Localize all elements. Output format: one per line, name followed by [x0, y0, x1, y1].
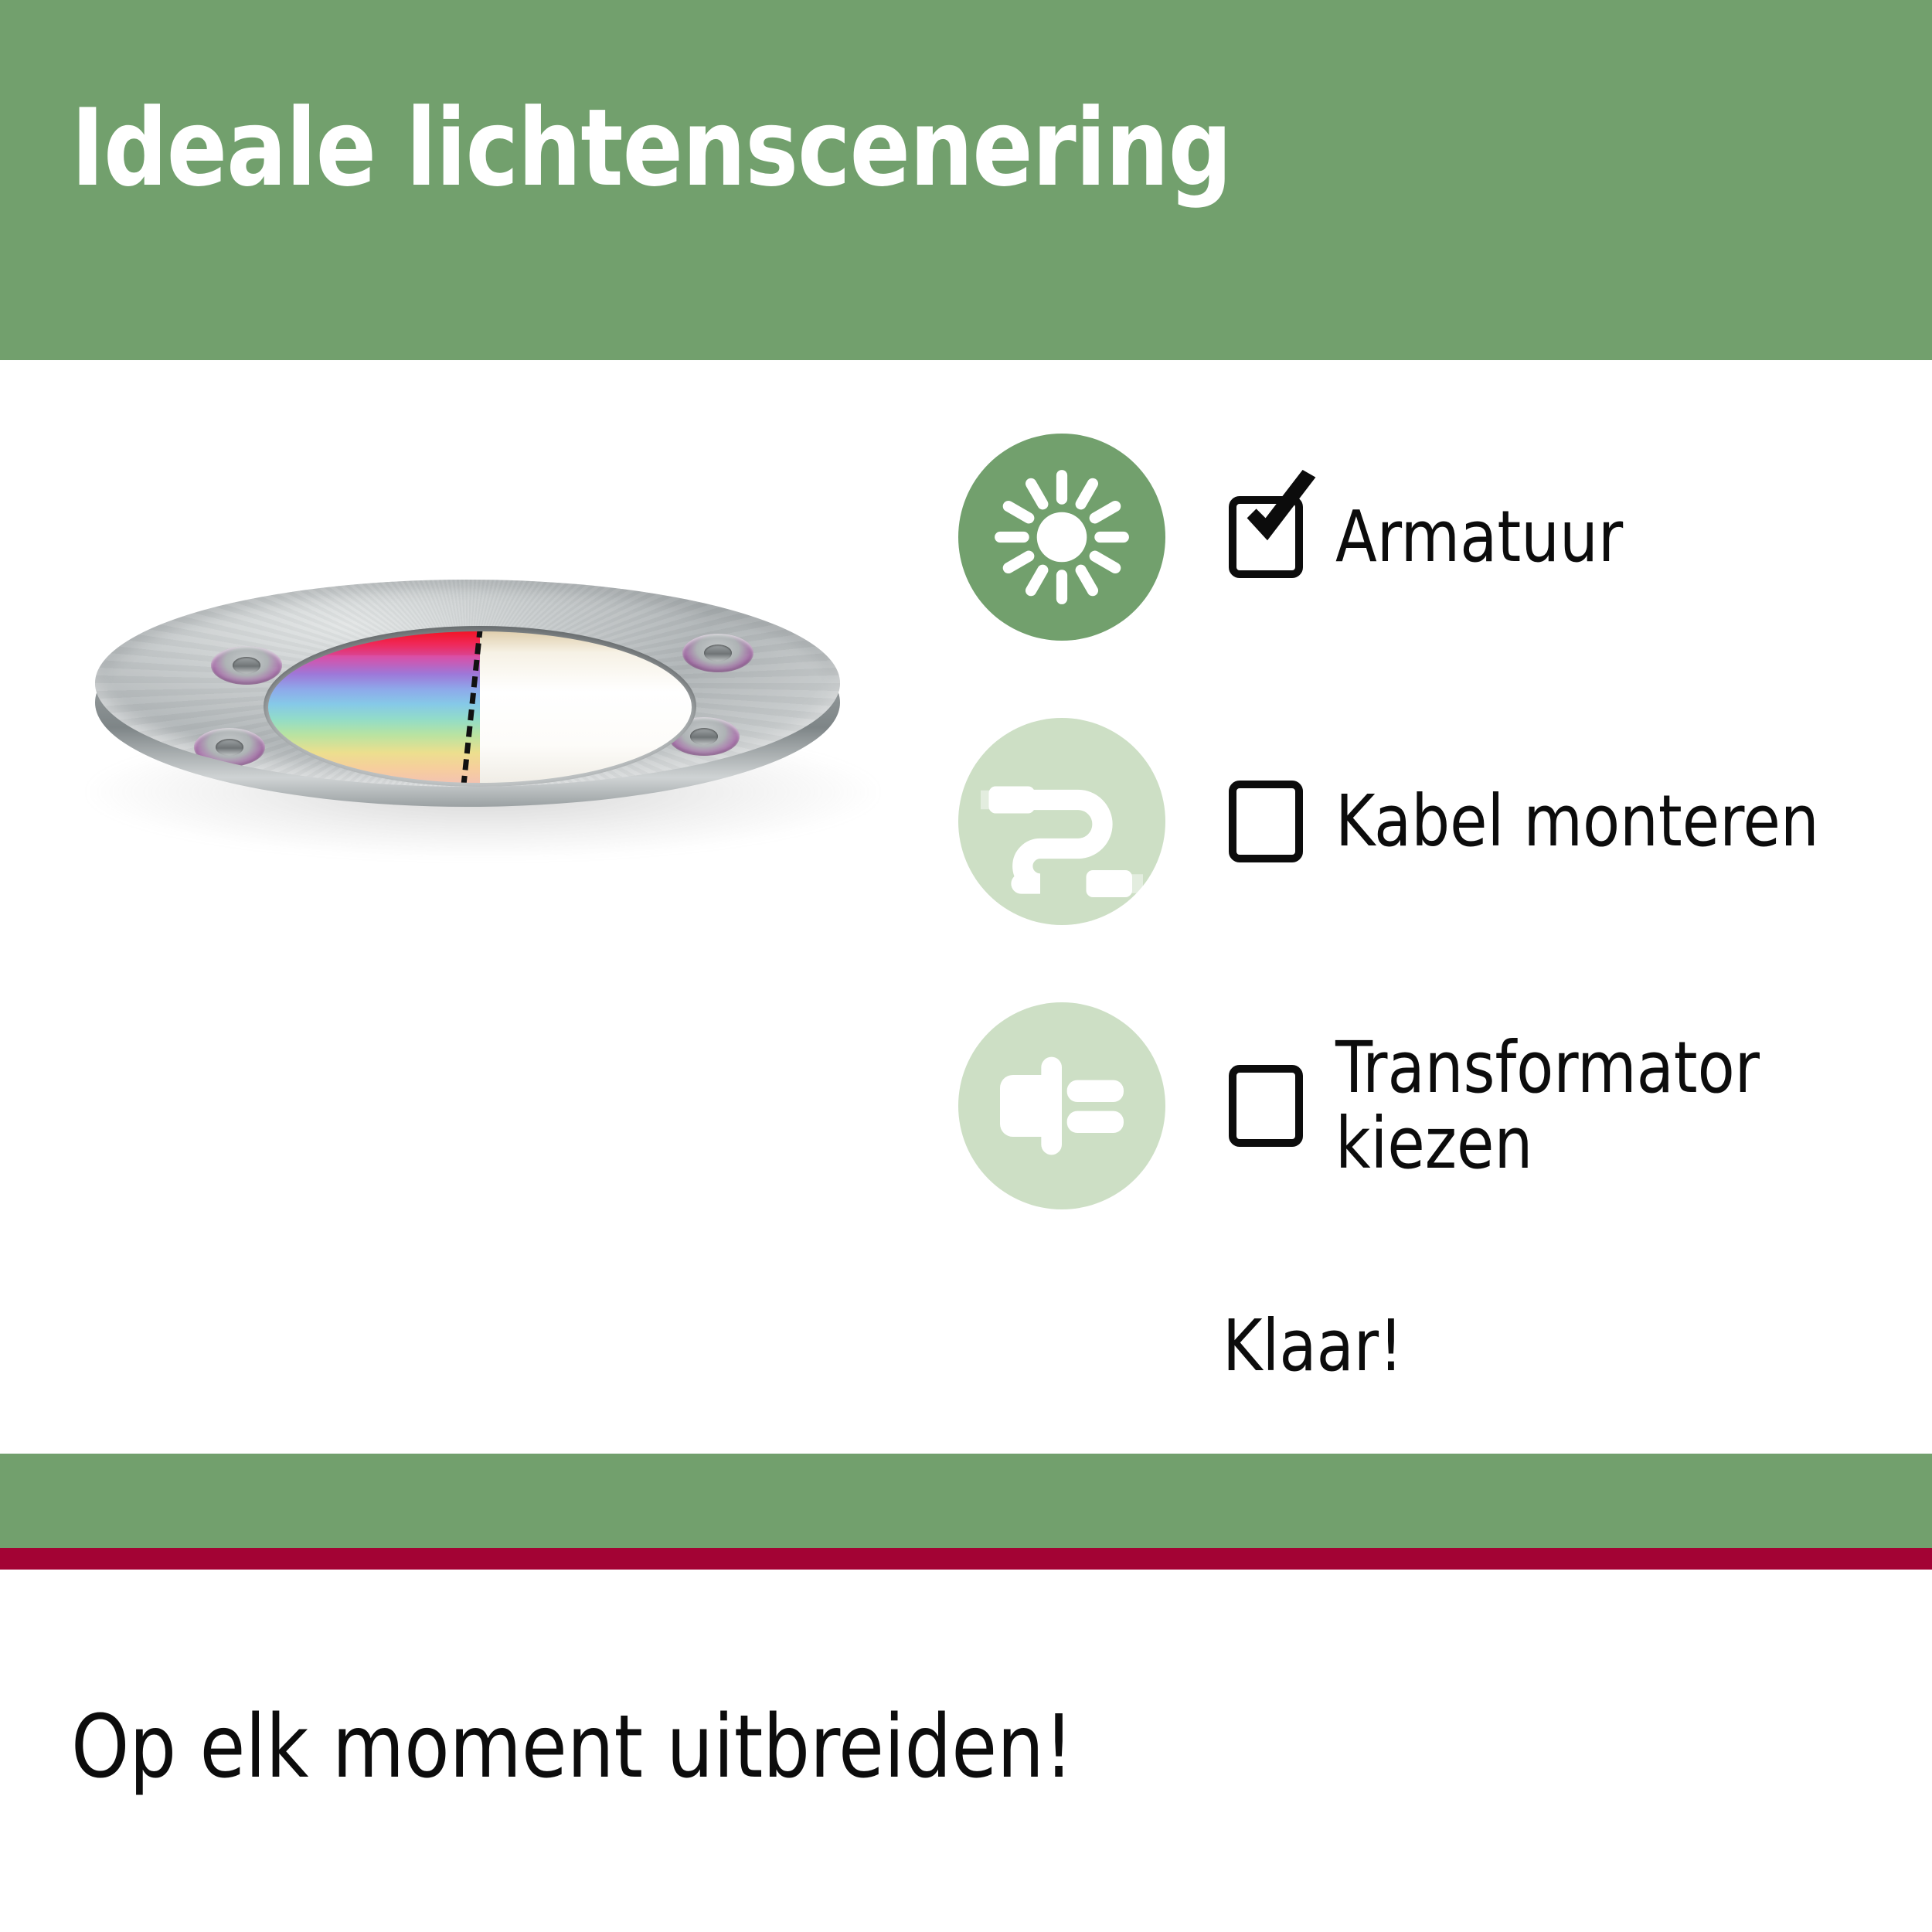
lamp-glass-well	[264, 626, 696, 787]
checkbox-armatuur[interactable]	[1229, 496, 1303, 578]
checklist-done-label: Klaar!	[1223, 1304, 1403, 1387]
screw-icon	[682, 634, 753, 672]
checklist-label-transformator: Transformator kiezen	[1335, 1030, 1760, 1181]
footer-green-band	[0, 1454, 1932, 1548]
lamp-lens	[268, 631, 692, 783]
checklist: Armatuur Kabel monteren	[958, 433, 1909, 1210]
checklist-item-armatuur[interactable]: Armatuur	[958, 433, 1909, 641]
checkbox-kabel[interactable]	[1229, 781, 1303, 862]
header-band: Ideale lichtenscenering	[0, 0, 1932, 360]
plug-icon	[985, 1029, 1139, 1183]
product-image	[58, 541, 908, 866]
plug-icon-badge	[958, 1002, 1165, 1209]
footer-tagline: Op elk moment uitbreiden!	[71, 1697, 1073, 1798]
cable-icon-badge	[958, 718, 1165, 925]
checklist-label-kabel: Kabel monteren	[1335, 784, 1819, 859]
checklist-label-armatuur: Armatuur	[1335, 499, 1623, 575]
checkbox-transformator[interactable]	[1229, 1065, 1303, 1147]
screw-icon	[194, 728, 265, 767]
checklist-item-transformator[interactable]: Transformator kiezen	[958, 1002, 1909, 1210]
lens-rgb-half	[268, 631, 480, 783]
ground-light-figure	[73, 556, 862, 819]
checklist-item-kabel[interactable]: Kabel monteren	[958, 717, 1909, 926]
checkmark-icon	[1230, 470, 1323, 563]
sun-icon	[988, 464, 1135, 611]
checklist-row-content: Armatuur	[1229, 496, 1638, 578]
page-title: Ideale lichtenscenering	[71, 93, 1231, 205]
lens-warmwhite-half	[480, 631, 692, 783]
cable-icon	[981, 740, 1143, 903]
checklist-row-content: Kabel monteren	[1229, 781, 1845, 862]
checklist-row-content: Transformator kiezen	[1229, 1030, 1782, 1181]
sun-icon-badge	[958, 434, 1165, 641]
footer-crimson-band	[0, 1548, 1932, 1570]
lamp-steel-ring	[95, 580, 840, 787]
